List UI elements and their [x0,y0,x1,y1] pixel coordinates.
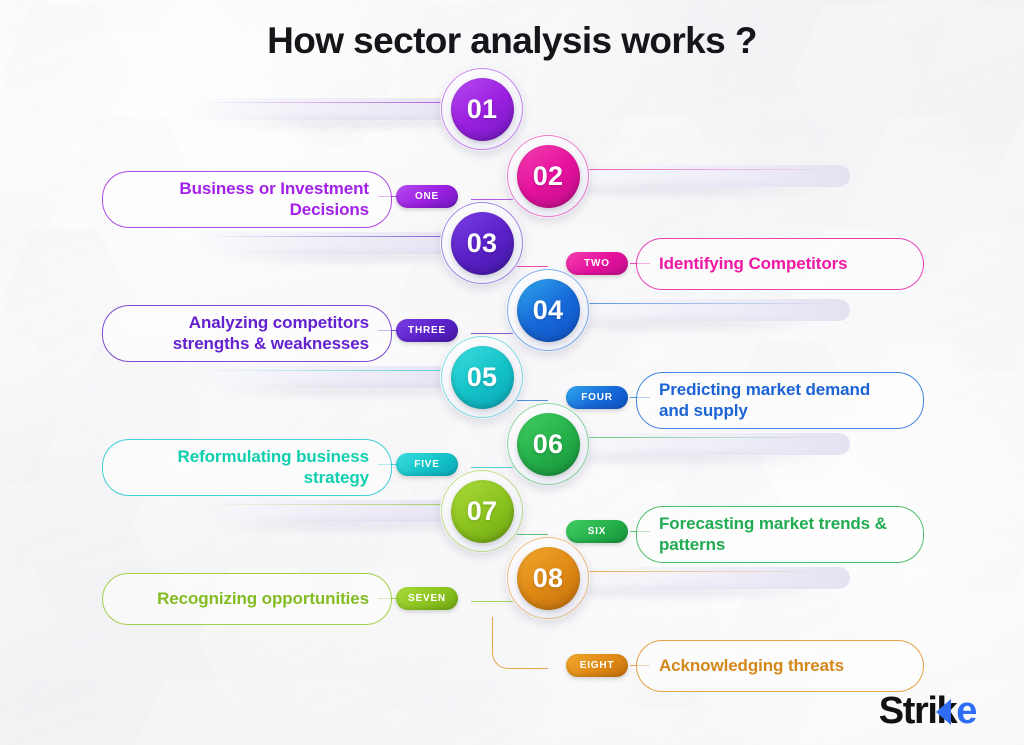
step-label-box[interactable]: Acknowledging threats [636,640,924,692]
step-number-label: 06 [517,413,580,476]
step-number-circle[interactable]: 02 [506,134,590,218]
step-number-label: 03 [451,212,514,275]
step-number-circle[interactable]: 01 [440,67,524,151]
page-title: How sector analysis works ? [0,20,1024,62]
step-word-badge[interactable]: EIGHT [566,654,628,677]
step-number-label: 05 [451,346,514,409]
step-bar-rule [550,169,835,170]
step-bar-rule [550,437,835,438]
step-number-label: 02 [517,145,580,208]
step-number-label: 01 [451,78,514,141]
step-elbow-connector [492,617,548,669]
strike-logo: Strike [879,690,976,733]
step-number-circle[interactable]: 07 [440,469,524,553]
step-number-circle[interactable]: 06 [506,402,590,486]
step-number-label: 04 [517,279,580,342]
step-number-circle[interactable]: 08 [506,536,590,620]
infographic-canvas: How sector analysis works ? 01ONEBusines… [0,0,1024,745]
step-bar-rule [550,571,835,572]
logo-text-dark: Stri [879,690,937,733]
step-number-label: 07 [451,480,514,543]
step-number-label: 08 [517,547,580,610]
step-number-circle[interactable]: 04 [506,268,590,352]
step-08: 08EIGHTAcknowledging threats [0,549,1024,679]
logo-text-accent: e [956,690,976,733]
step-number-circle[interactable]: 03 [440,201,524,285]
step-bar-rule [550,303,835,304]
step-number-circle[interactable]: 05 [440,335,524,419]
